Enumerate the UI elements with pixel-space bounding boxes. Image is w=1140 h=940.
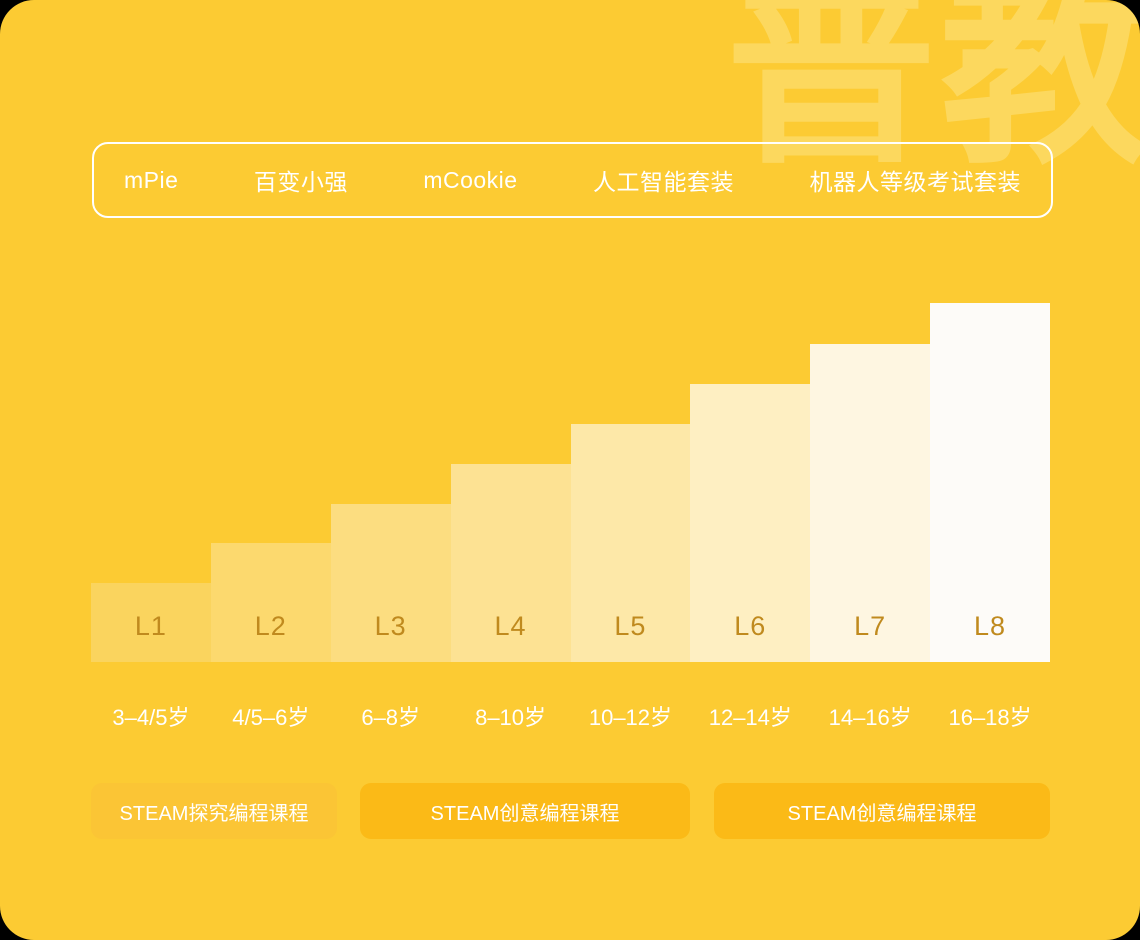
bar-label-l3: L3 [375,611,407,662]
nav-item-mpie[interactable]: mPie [124,167,178,194]
bar-l3: L3 [331,504,451,662]
age-label-l3: 6–8岁 [331,700,451,732]
page-root: 普教 mPie 百变小强 mCookie 人工智能套装 机器人等级考试套装 L1… [0,0,1140,940]
bar-l7: L7 [810,344,930,662]
bar-label-l8: L8 [974,611,1006,662]
bar-label-l5: L5 [614,611,646,662]
age-label-l1: 3–4/5岁 [91,700,211,732]
age-label-l2: 4/5–6岁 [211,700,331,732]
nav-item-ai-kit[interactable]: 人工智能套装 [593,163,734,197]
bar-label-l1: L1 [135,611,167,662]
nav-item-mcookie[interactable]: mCookie [423,167,517,194]
age-label-l6: 12–14岁 [690,700,810,732]
bar-label-l4: L4 [495,611,527,662]
age-label-l7: 14–16岁 [810,700,930,732]
product-nav-bar: mPie 百变小强 mCookie 人工智能套装 机器人等级考试套装 [92,142,1053,218]
bar-l5: L5 [571,424,691,662]
bar-l8: L8 [930,303,1050,662]
course-button-creative-2[interactable]: STEAM创意编程课程 [714,783,1050,839]
nav-item-robot-exam-kit[interactable]: 机器人等级考试套装 [809,163,1021,197]
bar-label-l6: L6 [734,611,766,662]
bar-label-l7: L7 [854,611,886,662]
bar-label-l2: L2 [255,611,287,662]
bar-l6: L6 [690,384,810,662]
age-label-l4: 8–10岁 [451,700,571,732]
bar-l2: L2 [211,543,331,662]
bar-l1: L1 [91,583,211,662]
course-button-group: STEAM探究编程课程 STEAM创意编程课程 STEAM创意编程课程 [91,783,1050,839]
course-button-creative-1[interactable]: STEAM创意编程课程 [360,783,690,839]
nav-item-baibianxiaoqiang[interactable]: 百变小强 [254,163,348,197]
age-range-axis: 3–4/5岁 4/5–6岁 6–8岁 8–10岁 10–12岁 12–14岁 1… [91,700,1050,732]
bar-l4: L4 [451,464,571,662]
course-button-explore[interactable]: STEAM探究编程课程 [91,783,337,839]
level-bar-chart: L1 L2 L3 L4 L5 L6 L7 L8 [91,290,1050,662]
age-label-l5: 10–12岁 [571,700,691,732]
age-label-l8: 16–18岁 [930,700,1050,732]
